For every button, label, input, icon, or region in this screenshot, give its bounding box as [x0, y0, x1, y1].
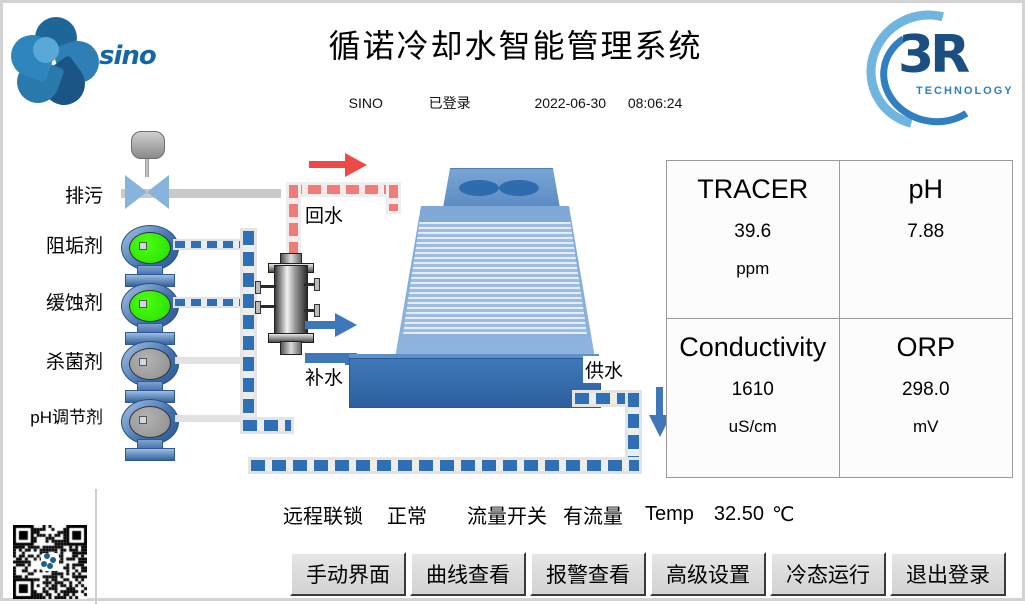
- reading-unit: uS/cm: [729, 417, 777, 437]
- pump-rotor-indicator: [129, 406, 171, 438]
- label-biocide: 杀菌剂: [23, 347, 103, 374]
- supply-flow-arrow-tail: [656, 387, 663, 419]
- flow-switch-label: 流量开关: [467, 500, 547, 529]
- temperature-value: 32.50: [714, 503, 764, 526]
- tower-basin: [349, 358, 601, 408]
- label-scale-inhibitor: 阻垢剂: [23, 231, 103, 258]
- qr-center-logo: [41, 553, 59, 571]
- reading-value: 1610: [732, 379, 774, 401]
- vessel-shell: [274, 265, 308, 339]
- reading-ph: pH 7.88: [840, 161, 1013, 319]
- valve-left-cone: [125, 175, 147, 209]
- supply-pipe-right: [628, 393, 639, 467]
- status-bar: 远程联锁 正常 流量开关 有流量 Temp 32.50 ℃: [283, 500, 1013, 528]
- pump-base: [125, 448, 175, 461]
- reading-unit: ppm: [736, 259, 769, 279]
- supply-pipe-bottom: [251, 460, 639, 471]
- dosing-pump-2[interactable]: [121, 283, 177, 329]
- label-makeup-water: 补水: [303, 363, 345, 390]
- blowdown-valve[interactable]: [125, 175, 169, 209]
- vessel-nozzle-cap-r2: [314, 304, 320, 317]
- system-date: 2022-06-30: [534, 95, 606, 111]
- valve-actuator: [131, 131, 165, 159]
- vessel-nozzle-cap-r1: [314, 278, 320, 291]
- 3r-technology-logo: 3R TECHNOLOGY: [864, 7, 1014, 115]
- user-name: SINO: [349, 95, 383, 111]
- vessel-nozzle-cap-l2: [255, 301, 261, 314]
- vessel-bottom-cap: [280, 341, 302, 355]
- side-stream-filter-vessel[interactable]: [268, 253, 312, 351]
- reading-conductivity: Conductivity 1610 uS/cm: [667, 319, 840, 477]
- dosing-line-3: [175, 357, 247, 364]
- pump-shaft-dot: [139, 300, 147, 308]
- chemical-header-bottom: [243, 420, 291, 431]
- login-status: 已登录: [429, 93, 471, 113]
- pump-shaft-dot: [139, 358, 147, 366]
- label-return-water: 回水: [303, 201, 345, 228]
- dosing-line-1: [175, 241, 247, 248]
- 3r-wordmark: 3R: [898, 25, 966, 85]
- cooling-tower[interactable]: [343, 168, 593, 428]
- footer-divider: [95, 489, 97, 604]
- reading-key: Conductivity: [679, 333, 826, 363]
- dosing-pump-4[interactable]: [121, 399, 177, 445]
- logout-button[interactable]: 退出登录: [890, 552, 1006, 596]
- qr-code[interactable]: [13, 525, 87, 599]
- button-bar: 手动界面 曲线查看 报警查看 高级设置 冷态运行 退出登录: [290, 552, 1006, 596]
- label-blowdown: 排污: [23, 181, 103, 208]
- pump-shaft-dot: [139, 416, 147, 424]
- dosing-pump-1[interactable]: [121, 225, 177, 271]
- tower-fan-icon: [459, 180, 539, 196]
- label-ph-adjuster: pH调节剂: [13, 403, 103, 428]
- remote-interlock-label: 远程联锁: [283, 500, 363, 529]
- reading-unit: mV: [913, 417, 939, 437]
- pump-rotor-indicator: [129, 348, 171, 380]
- reading-value: 298.0: [902, 379, 950, 401]
- alarm-view-button[interactable]: 报警查看: [530, 552, 646, 596]
- tower-fill-media: [403, 222, 587, 334]
- makeup-flow-arrow-tail: [305, 321, 339, 329]
- temperature-unit: ℃: [772, 502, 794, 527]
- hmi-screen: sino 循诺冷却水智能管理系统 SINO 已登录 2022-06-30 08:…: [0, 0, 1025, 601]
- vessel-nozzle-cap-l1: [255, 281, 261, 294]
- temperature-label: Temp: [645, 503, 694, 526]
- pump-rotor-indicator: [129, 290, 171, 322]
- cold-start-button[interactable]: 冷态运行: [770, 552, 886, 596]
- manual-screen-button[interactable]: 手动界面: [290, 552, 406, 596]
- reading-tracer: TRACER 39.6 ppm: [667, 161, 840, 319]
- pump-rotor-indicator: [129, 232, 171, 264]
- system-time: 08:06:24: [628, 95, 683, 111]
- reading-key: TRACER: [697, 175, 808, 205]
- technology-wordmark: TECHNOLOGY: [916, 85, 1014, 97]
- label-supply-water: 供水: [583, 356, 625, 383]
- valve-right-cone: [147, 175, 169, 209]
- advanced-settings-button[interactable]: 高级设置: [650, 552, 766, 596]
- reading-orp: ORP 298.0 mV: [840, 319, 1013, 477]
- measurement-panel: TRACER 39.6 ppm pH 7.88 Conductivity 161…: [666, 160, 1013, 478]
- reading-value: 39.6: [734, 221, 771, 243]
- dosing-line-2: [175, 299, 247, 306]
- remote-interlock-value: 正常: [387, 500, 427, 529]
- label-corrosion-inhibitor: 缓蚀剂: [23, 288, 103, 315]
- reading-key: ORP: [896, 333, 955, 363]
- dosing-line-4: [175, 415, 247, 422]
- flow-switch-value: 有流量: [563, 500, 623, 529]
- pump-shaft-dot: [139, 242, 147, 250]
- chemical-header-riser: [243, 231, 254, 431]
- dosing-pump-3[interactable]: [121, 341, 177, 387]
- return-flow-arrow-tail: [309, 161, 349, 168]
- reading-key: pH: [908, 175, 943, 205]
- trend-view-button[interactable]: 曲线查看: [410, 552, 526, 596]
- reading-value: 7.88: [907, 221, 944, 243]
